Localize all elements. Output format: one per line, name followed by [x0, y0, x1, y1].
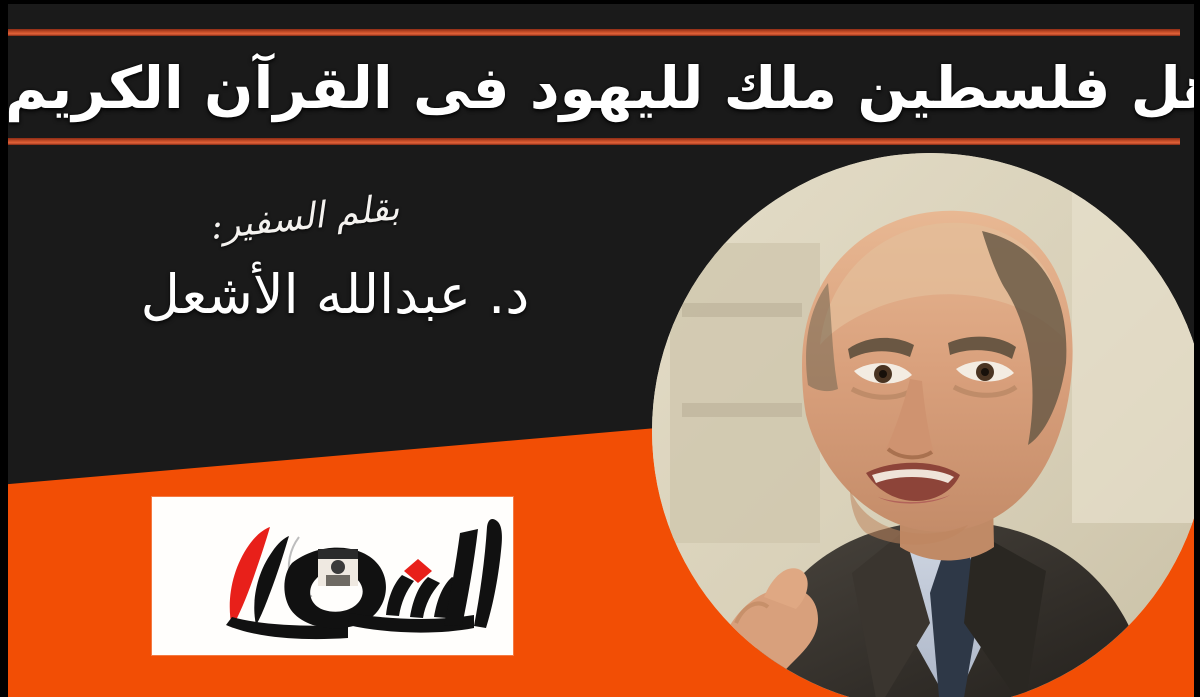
letterbox-left-edge	[0, 0, 8, 697]
portrait-photo-icon	[652, 153, 1200, 697]
headline-rule-bottom	[8, 138, 1180, 145]
al-mashhad-wordmark-icon	[152, 497, 513, 655]
page-title: هل فلسطين ملك لليهود فى القرآن الكريم؟	[8, 41, 1186, 135]
avatar	[652, 153, 1200, 697]
letterbox-top-edge	[0, 0, 1200, 4]
newspaper-logo	[152, 497, 513, 655]
headline-rule-top	[8, 29, 1180, 36]
letterbox-right-edge	[1194, 0, 1200, 697]
article-card: هل فلسطين ملك لليهود فى القرآن الكريم؟ ب…	[0, 0, 1200, 697]
